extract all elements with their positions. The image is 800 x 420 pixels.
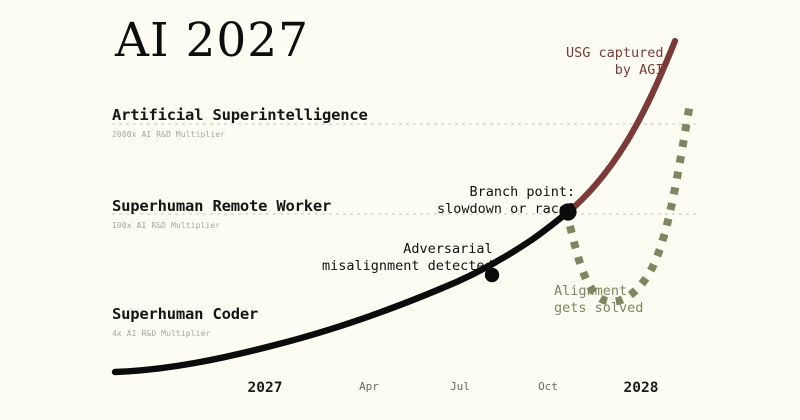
x-axis-tick-2028: 2028 <box>624 380 659 396</box>
x-axis-tick-apr: Apr <box>359 380 379 393</box>
annotation-adversarial-misalignment-line1: Adversarial <box>322 241 493 258</box>
annotation-alignment-solved-line1: Alignment <box>554 283 643 300</box>
annotation-usg-captured: USG captured by AGI <box>566 45 664 79</box>
tier-multiplier-artificial-superintelligence: 2000x AI R&D Multiplier <box>112 130 225 139</box>
ai-2027-chart-figure: AI 2027 Artificial Superintelligence 200… <box>0 0 800 420</box>
annotation-branch-point: Branch point: slowdown or race? <box>437 184 575 218</box>
x-axis-tick-jul: Jul <box>450 380 470 393</box>
tier-multiplier-superhuman-coder: 4x AI R&D Multiplier <box>112 329 210 338</box>
tier-label-superhuman-remote-worker: Superhuman Remote Worker <box>112 197 331 215</box>
baseline-trajectory-line <box>115 212 568 372</box>
annotation-branch-point-line1: Branch point: <box>437 184 575 201</box>
annotation-usg-captured-line2: by AGI <box>566 62 664 79</box>
tier-label-artificial-superintelligence: Artificial Superintelligence <box>112 106 368 124</box>
page-title: AI 2027 <box>115 17 309 64</box>
annotation-alignment-solved-line2: gets solved <box>554 300 643 317</box>
x-axis-tick-oct: Oct <box>538 380 558 393</box>
annotation-adversarial-misalignment-line2: misalignment detected <box>322 258 493 275</box>
tier-multiplier-superhuman-remote-worker: 100x AI R&D Multiplier <box>112 221 220 230</box>
annotation-branch-point-line2: slowdown or race? <box>437 201 575 218</box>
tier-label-superhuman-coder: Superhuman Coder <box>112 305 258 323</box>
annotation-adversarial-misalignment: Adversarial misalignment detected <box>322 241 493 275</box>
x-axis-tick-2027: 2027 <box>248 380 283 396</box>
annotation-alignment-solved: Alignment gets solved <box>554 283 643 317</box>
annotation-usg-captured-line1: USG captured <box>566 45 664 62</box>
